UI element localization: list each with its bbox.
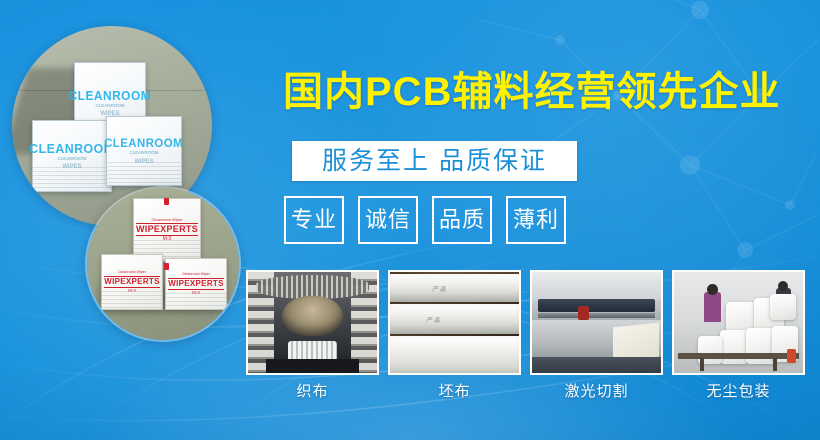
product-photo-wipexperts: Cleanroom Wiper WIPEXPERTS M-3 Cleanroom… [85,186,241,342]
work-table [678,353,799,359]
pack-brand-label: WIPEXPERTS [168,278,223,290]
pack-brand-label: CLEANROOM [29,142,114,155]
fabric-roll: 产 品 [388,274,521,302]
process-item-laser-cutting[interactable]: 激光切割 [530,270,663,399]
worker-figure [704,292,721,322]
machine-base [266,359,359,373]
process-caption: 织布 [296,384,328,399]
feature-tag-label: 诚信 [365,209,411,231]
pack-ridge-texture [102,288,162,309]
feature-tag-low-margin[interactable]: 薄利 [506,196,566,244]
machine-drum [282,296,343,336]
table-leg [700,358,704,371]
machine-base [532,357,661,373]
pack-ridge-texture [166,290,226,309]
process-photo-laser-cutter [530,270,663,375]
red-stool [787,349,796,363]
table-leg [773,358,777,371]
subtitle-banner: 服务至上 品质保证 [292,141,577,181]
pack-sub-label: CLEANROOM [57,157,86,162]
fabric-roll: 产 品 [388,304,521,334]
wipe-pack: CLEANROOM CLEANROOM WIPES [106,116,182,186]
fabric-sheet [613,323,659,362]
pack-top-label: Cleanroom Wiper [182,273,210,277]
process-photo-strip: 织布 产 品 产 品 坯布 [246,270,805,399]
pack-sub-label: CLEANROOM [129,151,158,156]
process-item-greige-fabric[interactable]: 产 品 产 品 坯布 [388,270,521,399]
pack-sub-label: CLEANROOM [95,104,124,109]
fabric-roll [388,336,521,375]
pack-brand-label: WIPEXPERTS [104,276,159,288]
worker-head [778,281,788,291]
feature-tag-professional[interactable]: 专业 [284,196,344,244]
pack-brand-label: WIPEXPERTS [136,223,198,236]
wipe-pack: CLEANROOM CLEANROOM WIPES [32,120,112,192]
feature-tag-integrity[interactable]: 诚信 [358,196,418,244]
worker-head [707,284,718,295]
pack-ridge-texture [107,159,181,185]
laser-head [578,306,589,320]
process-caption: 无尘包装 [706,384,770,399]
pack-brand-label: CLEANROOM [105,137,184,149]
pack-brand-label: CLEANROOM [69,89,152,102]
feature-tag-list: 专业 诚信 品质 薄利 [284,196,566,244]
roll-marking: 产 品 [426,315,440,324]
feature-tag-label: 品质 [439,209,485,231]
wipe-bale [770,294,796,320]
laser-gantry [538,299,655,312]
pack-top-label: Cleanroom Wiper [118,271,146,275]
wipexperts-pack: Cleanroom Wiper WIPEXPERTS M-3 [133,198,201,262]
red-seal-tab [164,198,169,205]
promo-banner: CLEANROOM CLEANROOM WIPES CLEANROOM CLEA… [0,0,820,440]
wipexperts-pack: Cleanroom Wiper WIPEXPERTS M-3 [101,254,163,310]
feature-tag-label: 薄利 [513,209,559,231]
pack-top-label: Cleanroom Wiper [151,218,182,222]
wipexperts-pack: Cleanroom Wiper WIPEXPERTS M-3 [165,258,227,310]
process-photo-packaging-room [672,270,805,375]
red-seal-tab [164,263,169,270]
page-title: 国内PCB辅料经营领先企业 [283,72,780,112]
process-photo-fabric-rolls: 产 品 产 品 [388,270,521,375]
fabric-output [288,341,337,361]
gantry-rail [538,313,655,318]
feature-tag-quality[interactable]: 品质 [432,196,492,244]
process-item-weaving[interactable]: 织布 [246,270,379,399]
room-wall [532,272,661,300]
process-photo-knitting-machine [246,270,379,375]
pack-ridge-texture [33,164,111,191]
feature-tag-label: 专业 [291,209,337,231]
process-caption: 坯布 [438,384,470,399]
process-caption: 激光切割 [564,384,628,399]
process-item-cleanroom-packaging[interactable]: 无尘包装 [672,270,805,399]
subtitle-text: 服务至上 品质保证 [322,149,547,174]
roll-marking: 产 品 [432,284,446,293]
